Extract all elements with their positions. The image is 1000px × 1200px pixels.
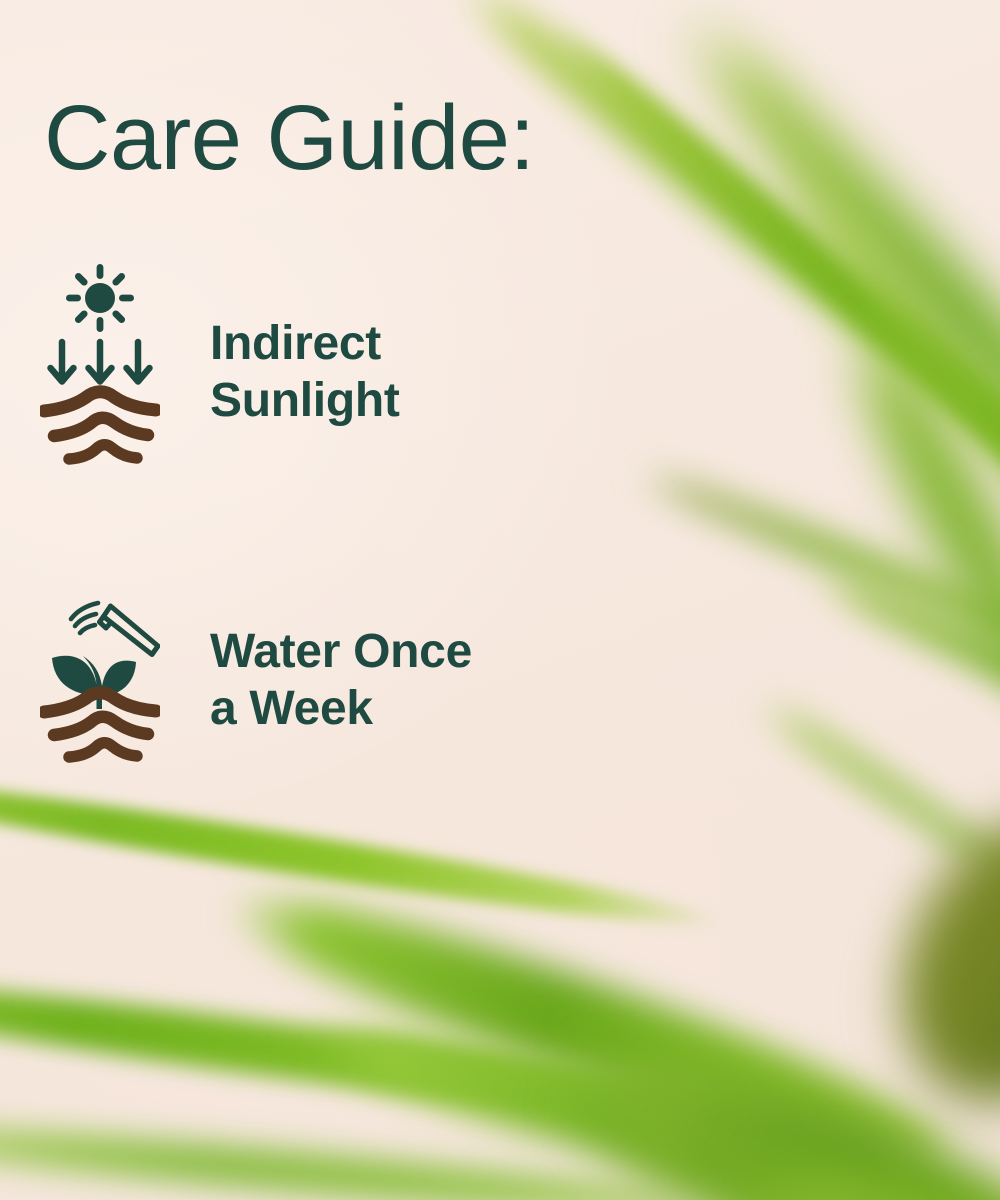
soil-waves-icon	[44, 392, 156, 459]
care-item-indirect-sunlight: Indirect Sunlight	[40, 258, 400, 468]
watering-can-spout-icon	[100, 606, 159, 655]
indirect-sunlight-icon	[40, 258, 160, 468]
care-item-water-once-a-week: Water Once a Week	[40, 592, 472, 764]
watering-sprout-icon	[40, 592, 160, 764]
down-arrow-icon	[51, 342, 150, 382]
page-title: Care Guide:	[44, 92, 535, 184]
care-label-indirect-sunlight: Indirect Sunlight	[160, 258, 400, 429]
water-spray-icon	[71, 603, 98, 633]
care-label-water-once-a-week: Water Once a Week	[160, 592, 472, 737]
sun-icon	[66, 264, 134, 332]
care-guide-card: Care Guide:	[0, 0, 1000, 1200]
